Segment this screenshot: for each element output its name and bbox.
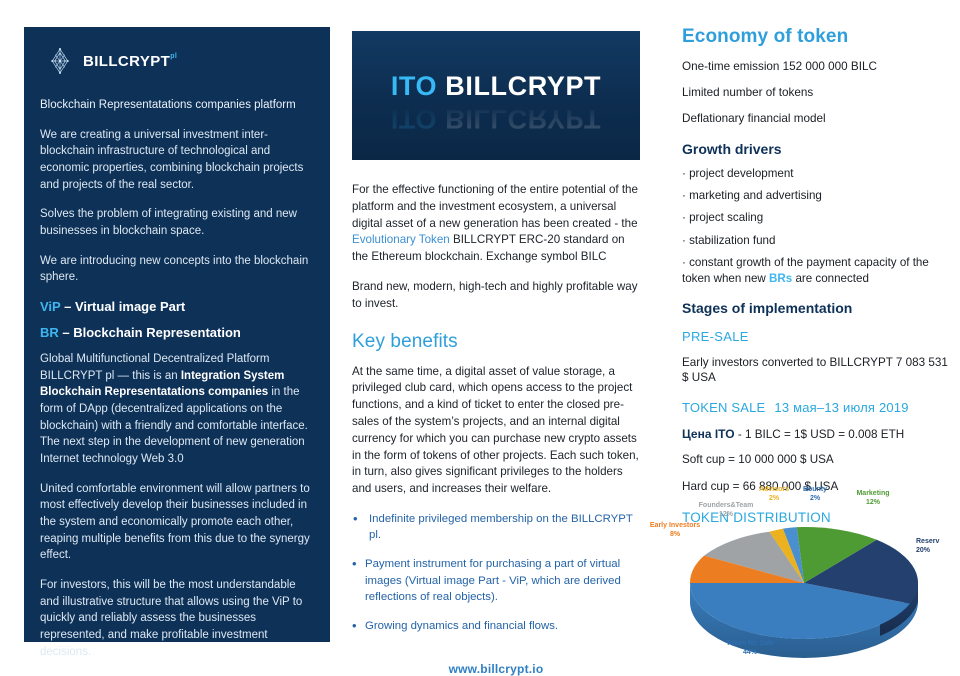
presale-label: PRE-SALE [682,329,950,344]
key-benefits-heading: Key benefits [352,331,640,353]
left-lead-text: Blockchain Representatations companies p… [40,97,314,114]
token-distribution-chart: Founders&Team 12% Advisors 2% Bounty 2% … [648,478,960,669]
middle-intro-part-1: For the effective functioning of the ent… [352,183,638,230]
ito-price-label: Цена ITO [682,427,735,441]
pie-label-reserv-text: Reserv [916,538,939,545]
ito-price-row: Цена ITO - 1 BILC = 1$ USD = 0.008 ETH [682,427,950,441]
economy-heading: Economy of token [682,26,950,48]
ito-brand: BILLCRYPT [445,71,601,101]
definition-vip-key: ViP [40,299,60,314]
pie-label-early-investors-text: Early Investors [650,522,700,529]
definition-vip-text: – Virtual image Part [60,299,185,314]
pie-label-token-for-sale: Token for Sale 44% [704,640,796,658]
definition-br-key: BR [40,325,59,340]
left-paragraph-2: Solves the problem of integrating existi… [40,206,314,239]
ito-prefix-reflection: ITO [391,104,437,134]
middle-brand-new: Brand new, modern, high-tech and highly … [352,279,640,313]
growth-driver-4: · stabilization fund [682,233,950,248]
pie-label-founders-team-text: Founders&Team [699,502,754,509]
definition-br: BR – Blockchain Representation [40,325,314,340]
pie-label-founders-team: Founders&Team 12% [678,502,774,520]
pie-label-bounty: Bounty 2% [794,486,836,504]
growth-driver-5-part-2: are connected [792,272,869,285]
pie-label-marketing-text: Marketing [856,490,889,497]
growth-driver-brs-key: BRs [769,272,792,285]
brand-name: BILLCRYPTpl [83,53,170,70]
benefit-bullet-1: Indefinite privileged membership on the … [352,511,640,544]
stages-heading: Stages of implementation [682,300,950,316]
middle-column: ITO BILLCRYPT ITO BILLCRYPT For the effe… [352,31,640,676]
pie-label-marketing: Marketing 12% [842,490,904,508]
ito-banner: ITO BILLCRYPT ITO BILLCRYPT [352,31,640,160]
pie-value-early-investors: 8% [638,531,712,540]
evolutionary-token-highlight: Evolutionary Token [352,233,450,246]
pie-value-marketing: 12% [842,499,904,508]
ito-prefix: ITO [391,71,437,101]
brand-logo: BILLCRYPTpl [46,47,314,75]
ito-banner-reflection: ITO BILLCRYPT [352,103,640,134]
pie-value-token-for-sale: 44% [704,649,796,658]
pie-label-advisors: Advisors 2% [752,486,796,504]
pie-label-reserv: Reserv 20% [916,538,960,556]
ito-banner-title: ITO BILLCRYPT [352,71,640,102]
left-closing-2: For investors, this will be the most und… [40,577,314,660]
brand-suffix: pl [170,53,177,62]
left-paragraph-1: We are creating a universal investment i… [40,127,314,194]
pie-label-early-investors: Early Investors 8% [638,522,712,540]
ito-brand-reflection: BILLCRYPT [445,104,601,134]
pie-value-reserv: 20% [916,547,960,556]
economy-line-1: One-time emission 152 000 000 BILC [682,59,950,74]
website-link[interactable]: www.billcrypt.io [352,662,640,676]
growth-driver-2: · marketing and advertising [682,188,950,203]
left-info-panel: BILLCRYPTpl Blockchain Representatations… [24,27,330,642]
right-column: Economy of token One-time emission 152 0… [682,26,950,525]
token-sale-row: TOKEN SALE13 мая–13 июля 2019 [682,400,950,415]
soft-cup: Soft cup = 10 000 000 $ USA [682,452,950,467]
growth-driver-5: · constant growth of the payment capacit… [682,255,950,286]
diamond-network-icon [46,47,74,75]
pie-value-bounty: 2% [794,495,836,504]
key-benefits-body: At the same time, a digital asset of val… [352,364,640,498]
economy-line-2: Limited number of tokens [682,85,950,100]
benefit-bullet-2: Payment instrument for purchasing a part… [352,556,640,606]
middle-intro-paragraph: For the effective functioning of the ent… [352,182,640,266]
platform-paragraph: Global Multifunctional Decentralized Pla… [40,351,314,468]
pie-slices [690,527,918,639]
benefit-bullet-3: Growing dynamics and financial flows. [352,618,640,635]
left-paragraph-3: We are introducing new concepts into the… [40,253,314,286]
pie-label-token-for-sale-text: Token for Sale [726,640,774,647]
growth-driver-1: · project development [682,166,950,181]
growth-driver-3: · project scaling [682,210,950,225]
brand-name-text: BILLCRYPT [83,53,170,70]
pie-label-advisors-text: Advisors [759,486,789,493]
presale-text: Early investors converted to BILLCRYPT 7… [682,355,950,385]
definition-vip: ViP – Virtual image Part [40,299,314,314]
left-closing-1: United comfortable environment will allo… [40,481,314,564]
poster-page: BILLCRYPTpl Blockchain Representatations… [0,0,960,669]
pie-label-bounty-text: Bounty [803,486,827,493]
definition-br-text: – Blockchain Representation [59,325,241,340]
economy-line-3: Deflationary financial model [682,111,950,126]
token-sale-label: TOKEN SALE [682,400,765,415]
ito-price-value: - 1 BILC = 1$ USD = 0.008 ETH [735,428,905,441]
token-sale-dates: 13 мая–13 июля 2019 [774,400,908,415]
growth-drivers-heading: Growth drivers [682,141,950,157]
pie-value-advisors: 2% [752,495,796,504]
pie-value-founders-team: 12% [678,511,774,520]
